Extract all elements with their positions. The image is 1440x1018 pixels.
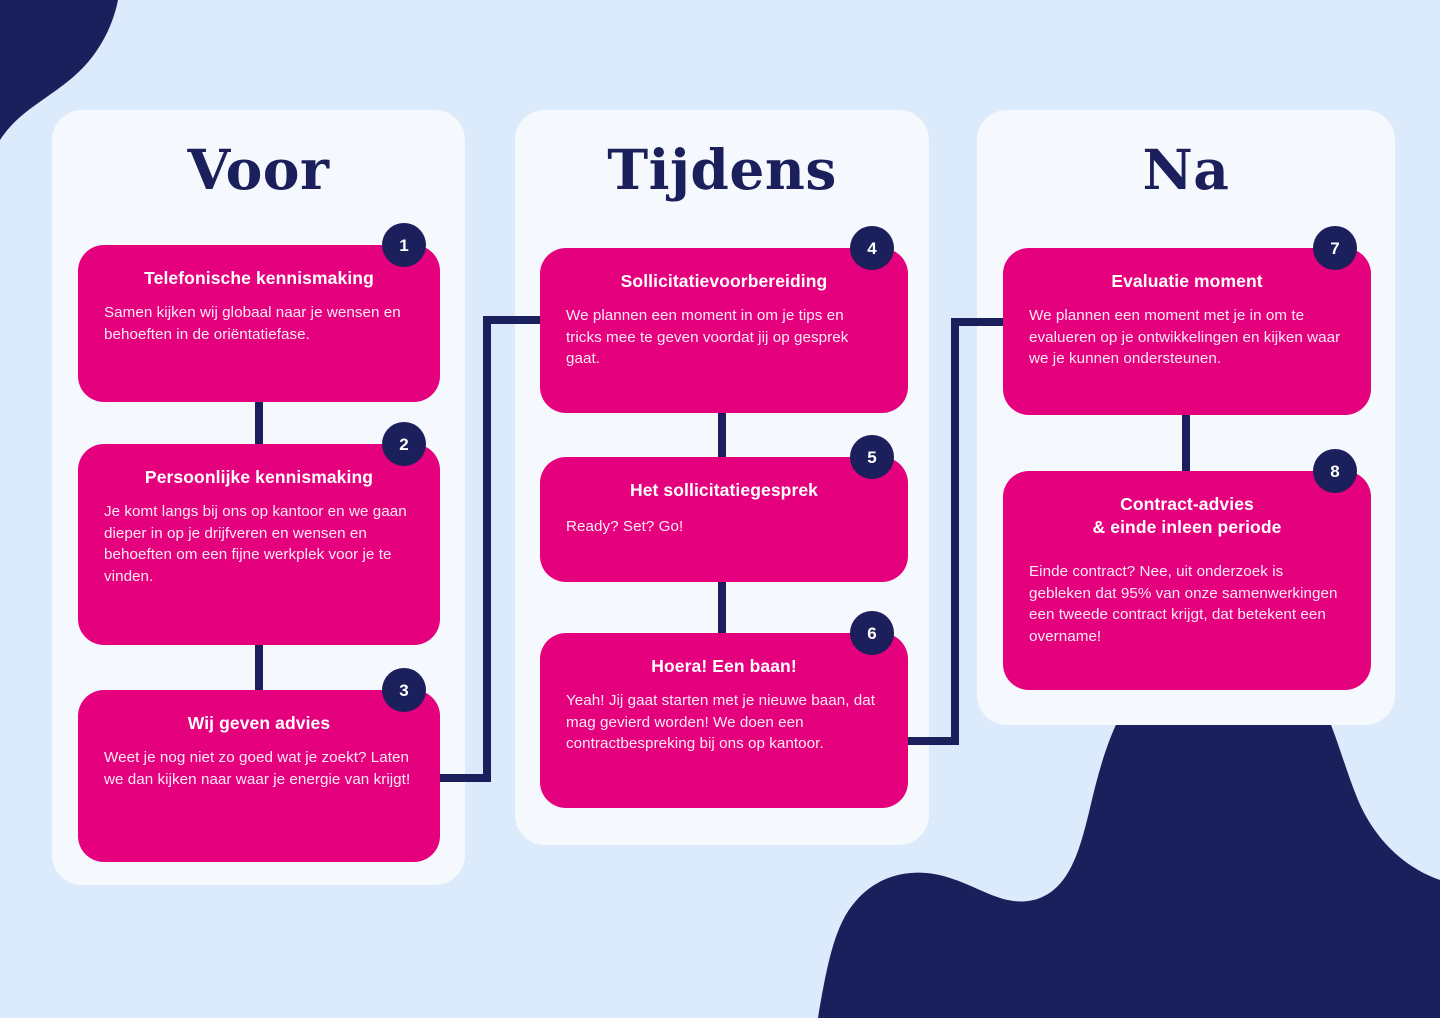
step-card-title-7: Evaluatie moment bbox=[1029, 270, 1345, 293]
step-number-badge-2: 2 bbox=[382, 422, 426, 466]
step-card-title-3: Wij geven advies bbox=[104, 712, 414, 735]
step-card-title-5: Het sollicitatiegesprek bbox=[566, 479, 882, 502]
column-title-voor: Voor bbox=[52, 142, 465, 197]
step-card-5[interactable]: 5 Het sollicitatiegesprek Ready? Set? Go… bbox=[540, 457, 908, 582]
step-card-body-1: Samen kijken wij globaal naar je wensen … bbox=[104, 302, 414, 345]
step-card-8[interactable]: 8 Contract-advies& einde inleen periode … bbox=[1003, 471, 1371, 690]
step-card-6[interactable]: 6 Hoera! Een baan! Yeah! Jij gaat starte… bbox=[540, 633, 908, 808]
column-title-tijdens: Tijdens bbox=[515, 142, 929, 197]
step-card-title-2: Persoonlijke kennismaking bbox=[104, 466, 414, 489]
step-card-4[interactable]: 4 Sollicitatievoorbereiding We plannen e… bbox=[540, 248, 908, 413]
step-number-badge-3: 3 bbox=[382, 668, 426, 712]
step-number-badge-8: 8 bbox=[1313, 449, 1357, 493]
step-card-title-6: Hoera! Een baan! bbox=[566, 655, 882, 678]
step-card-1[interactable]: 1 Telefonische kennismaking Samen kijken… bbox=[78, 245, 440, 402]
step-card-body-7: We plannen een moment met je in om te ev… bbox=[1029, 305, 1345, 370]
step-number-badge-5: 5 bbox=[850, 435, 894, 479]
step-card-3[interactable]: 3 Wij geven advies Weet je nog niet zo g… bbox=[78, 690, 440, 862]
step-number-badge-6: 6 bbox=[850, 611, 894, 655]
step-card-body-4: We plannen een moment in om je tips en t… bbox=[566, 305, 882, 370]
step-number-badge-1: 1 bbox=[382, 223, 426, 267]
step-card-2[interactable]: 2 Persoonlijke kennismaking Je komt lang… bbox=[78, 444, 440, 645]
step-card-body-2: Je komt langs bij ons op kantoor en we g… bbox=[104, 501, 414, 587]
step-card-body-3: Weet je nog niet zo goed wat je zoekt? L… bbox=[104, 747, 414, 790]
step-card-body-6: Yeah! Jij gaat starten met je nieuwe baa… bbox=[566, 690, 882, 755]
infographic-canvas: Voor 1 Telefonische kennismaking Samen k… bbox=[0, 0, 1440, 1018]
step-card-7[interactable]: 7 Evaluatie moment We plannen een moment… bbox=[1003, 248, 1371, 415]
step-card-body-5: Ready? Set? Go! bbox=[566, 514, 882, 538]
step-number-badge-7: 7 bbox=[1313, 226, 1357, 270]
column-title-na: Na bbox=[977, 142, 1395, 197]
step-card-title-4: Sollicitatievoorbereiding bbox=[566, 270, 882, 293]
step-number-badge-4: 4 bbox=[850, 226, 894, 270]
step-card-body-8: Einde contract? Nee, uit onderzoek is ge… bbox=[1029, 561, 1345, 647]
step-card-title-1: Telefonische kennismaking bbox=[104, 267, 414, 290]
step-card-title-8: Contract-advies& einde inleen periode bbox=[1029, 493, 1345, 539]
